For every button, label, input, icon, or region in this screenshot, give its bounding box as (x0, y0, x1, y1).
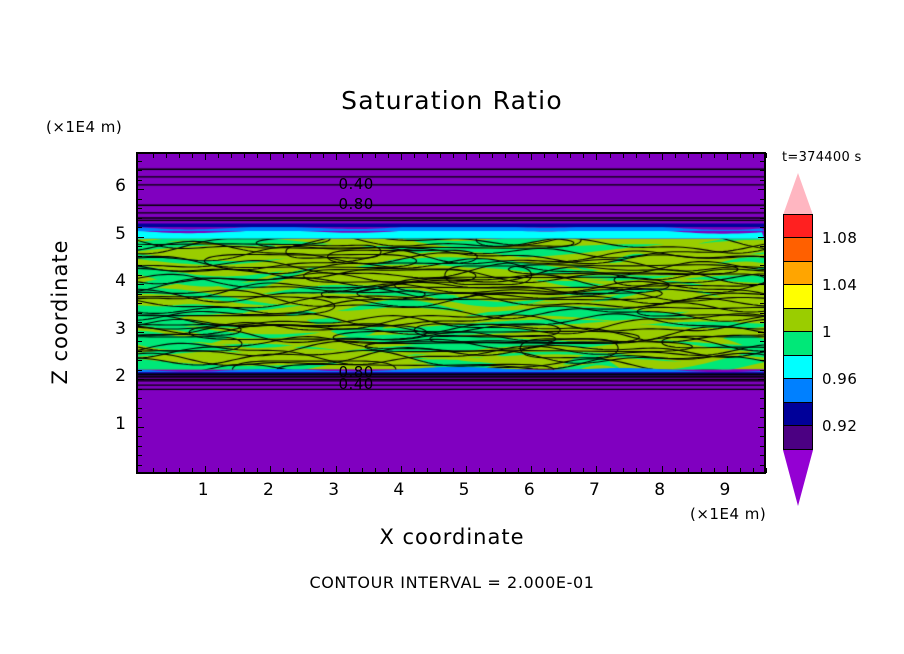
axis-tick (283, 153, 284, 158)
contour-plot-area (136, 152, 766, 474)
axis-tick (760, 275, 765, 276)
axis-tick (466, 153, 467, 160)
axis-tick (336, 153, 337, 160)
axis-tick (675, 468, 676, 473)
axis-tick (137, 275, 142, 276)
axis-tick (662, 466, 663, 473)
axis-tick (760, 303, 765, 304)
axis-tick (636, 153, 637, 158)
axis-tick (166, 153, 167, 158)
axis-tick (701, 153, 702, 158)
axis-tick (231, 153, 232, 158)
colorbar-tick-label: 1 (822, 323, 832, 341)
axis-tick (760, 170, 765, 171)
axis-tick (137, 284, 144, 285)
axis-tick (760, 436, 765, 437)
axis-tick (205, 153, 206, 160)
axis-tick (349, 153, 350, 158)
axis-tick (760, 322, 765, 323)
colorbar-band (783, 425, 813, 450)
axis-tick (310, 468, 311, 473)
axis-tick (675, 153, 676, 158)
y-tick-label: 5 (96, 224, 126, 244)
axis-tick (137, 246, 142, 247)
axis-tick (760, 360, 765, 361)
axis-tick (688, 468, 689, 473)
axis-tick (137, 370, 142, 371)
axis-tick (760, 161, 765, 162)
axis-tick (137, 189, 144, 190)
contour-line-label: 0.40 (338, 375, 373, 393)
axis-tick (466, 466, 467, 473)
axis-tick (714, 468, 715, 473)
axis-tick (583, 153, 584, 158)
axis-tick (727, 466, 728, 473)
axis-tick (760, 417, 765, 418)
colorbar-band (783, 331, 813, 356)
x-tick-label: 4 (379, 480, 419, 500)
axis-tick (760, 446, 765, 447)
axis-tick (137, 351, 142, 352)
axis-tick (623, 153, 624, 158)
axis-tick (760, 389, 765, 390)
colorbar-tick-label: 0.96 (822, 370, 857, 388)
axis-tick (137, 237, 144, 238)
axis-tick (427, 468, 428, 473)
axis-tick (531, 153, 532, 160)
contour-line-label: 0.80 (338, 195, 373, 213)
axis-tick (205, 466, 206, 473)
axis-tick (137, 180, 142, 181)
axis-tick (518, 153, 519, 158)
axis-tick (760, 398, 765, 399)
axis-tick (688, 153, 689, 158)
axis-tick (257, 153, 258, 158)
axis-tick (323, 468, 324, 473)
axis-tick (137, 208, 142, 209)
axis-tick (166, 468, 167, 473)
axis-tick (544, 468, 545, 473)
y-axis-title: Z coordinate (48, 212, 72, 412)
axis-tick (479, 153, 480, 158)
axis-tick (701, 468, 702, 473)
axis-tick (323, 153, 324, 158)
colorbar-bottom-cap (783, 450, 813, 506)
axis-tick (610, 468, 611, 473)
axis-tick (760, 265, 765, 266)
axis-tick (153, 153, 154, 158)
x-tick-label: 1 (183, 480, 223, 500)
axis-tick (137, 161, 142, 162)
axis-tick (137, 227, 142, 228)
y-tick-label: 3 (96, 319, 126, 339)
axis-tick (375, 153, 376, 158)
axis-tick (758, 284, 765, 285)
axis-tick (137, 341, 142, 342)
axis-tick (137, 398, 142, 399)
axis-tick (505, 468, 506, 473)
axis-tick (310, 153, 311, 158)
axis-tick (414, 468, 415, 473)
axis-tick (137, 446, 142, 447)
axis-tick (760, 227, 765, 228)
colorbar-tick-label: 1.08 (822, 229, 857, 247)
x-tick-label: 7 (574, 480, 614, 500)
axis-tick (557, 468, 558, 473)
x-axis-unit-label: (×1E4 m) (690, 505, 766, 523)
axis-tick (137, 465, 142, 466)
y-tick-label: 2 (96, 366, 126, 386)
axis-tick (758, 427, 765, 428)
axis-tick (505, 153, 506, 158)
axis-tick (760, 341, 765, 342)
axis-tick (231, 468, 232, 473)
contour-field-canvas (138, 154, 764, 472)
axis-tick (760, 180, 765, 181)
axis-tick (649, 153, 650, 158)
axis-tick (760, 246, 765, 247)
axis-tick (623, 468, 624, 473)
colorbar-band (783, 284, 813, 309)
axis-tick (137, 199, 142, 200)
axis-tick (570, 468, 571, 473)
axis-tick (153, 468, 154, 473)
colorbar-tick-label: 0.92 (822, 417, 857, 435)
axis-tick (760, 294, 765, 295)
axis-tick (137, 265, 142, 266)
axis-tick (760, 199, 765, 200)
x-tick-label: 9 (705, 480, 745, 500)
colorbar-band (783, 237, 813, 262)
axis-tick (137, 436, 142, 437)
axis-tick (137, 313, 142, 314)
axis-tick (270, 153, 271, 160)
axis-tick (557, 153, 558, 158)
axis-tick (453, 468, 454, 473)
colorbar-tick-label: 1.04 (822, 276, 857, 294)
axis-tick (137, 218, 142, 219)
axis-tick (137, 170, 142, 171)
axis-tick (610, 153, 611, 158)
y-axis-unit-label: (×1E4 m) (46, 118, 122, 136)
colorbar (783, 215, 813, 450)
x-tick-label: 6 (509, 480, 549, 500)
axis-tick (137, 322, 142, 323)
axis-tick (137, 427, 144, 428)
axis-tick (336, 466, 337, 473)
axis-tick (596, 153, 597, 160)
axis-tick (760, 408, 765, 409)
axis-tick (714, 153, 715, 158)
axis-tick (570, 153, 571, 158)
axis-tick (137, 294, 142, 295)
axis-tick (649, 468, 650, 473)
axis-tick (137, 360, 142, 361)
axis-tick (760, 313, 765, 314)
axis-tick (753, 468, 754, 473)
axis-tick (349, 468, 350, 473)
y-tick-label: 6 (96, 176, 126, 196)
colorbar-band (783, 378, 813, 403)
axis-tick (427, 153, 428, 158)
y-tick-label: 1 (96, 414, 126, 434)
axis-tick (388, 153, 389, 158)
axis-tick (137, 332, 144, 333)
axis-tick (362, 468, 363, 473)
colorbar-band (783, 355, 813, 380)
axis-tick (137, 303, 142, 304)
x-tick-label: 8 (640, 480, 680, 500)
axis-tick (440, 468, 441, 473)
axis-tick (218, 153, 219, 158)
axis-tick (662, 153, 663, 160)
axis-tick (375, 468, 376, 473)
axis-tick (531, 466, 532, 473)
axis-tick (137, 408, 142, 409)
x-tick-label: 5 (444, 480, 484, 500)
axis-tick (137, 389, 142, 390)
axis-tick (218, 468, 219, 473)
axis-tick (137, 417, 142, 418)
axis-tick (740, 153, 741, 158)
axis-tick (244, 468, 245, 473)
y-tick-label: 4 (96, 271, 126, 291)
contour-interval-caption: CONTOUR INTERVAL = 2.000E-01 (0, 573, 904, 592)
axis-tick (137, 455, 142, 456)
axis-tick (401, 466, 402, 473)
axis-tick (758, 332, 765, 333)
axis-tick (192, 468, 193, 473)
x-axis-title: X coordinate (0, 525, 904, 549)
axis-tick (492, 468, 493, 473)
colorbar-band (783, 261, 813, 286)
axis-tick (760, 218, 765, 219)
colorbar-band (783, 214, 813, 239)
axis-tick (758, 237, 765, 238)
axis-tick (518, 468, 519, 473)
axis-tick (766, 153, 767, 158)
colorbar-top-cap (783, 173, 813, 215)
axis-tick (257, 468, 258, 473)
contour-line-label: 0.40 (338, 175, 373, 193)
axis-tick (766, 468, 767, 473)
axis-tick (244, 153, 245, 158)
axis-tick (137, 256, 142, 257)
axis-tick (596, 466, 597, 473)
axis-tick (758, 189, 765, 190)
axis-tick (401, 153, 402, 160)
axis-tick (740, 468, 741, 473)
colorbar-band (783, 402, 813, 427)
axis-tick (453, 153, 454, 158)
axis-tick (440, 153, 441, 158)
axis-tick (297, 468, 298, 473)
axis-tick (192, 153, 193, 158)
axis-tick (362, 153, 363, 158)
axis-tick (727, 153, 728, 160)
axis-tick (636, 468, 637, 473)
axis-tick (760, 455, 765, 456)
x-tick-label: 3 (314, 480, 354, 500)
time-annotation: t=374400 s (782, 150, 862, 165)
axis-tick (544, 153, 545, 158)
axis-tick (583, 468, 584, 473)
axis-tick (760, 208, 765, 209)
axis-tick (388, 468, 389, 473)
axis-tick (753, 153, 754, 158)
x-tick-label: 2 (248, 480, 288, 500)
axis-tick (760, 370, 765, 371)
axis-tick (760, 465, 765, 466)
axis-tick (760, 256, 765, 257)
axis-tick (137, 379, 144, 380)
axis-tick (179, 153, 180, 158)
axis-tick (492, 153, 493, 158)
axis-tick (283, 468, 284, 473)
axis-tick (479, 468, 480, 473)
axis-tick (414, 153, 415, 158)
axis-tick (270, 466, 271, 473)
axis-tick (760, 351, 765, 352)
axis-tick (179, 468, 180, 473)
colorbar-band (783, 308, 813, 333)
axis-tick (758, 379, 765, 380)
axis-tick (297, 153, 298, 158)
page-title: Saturation Ratio (0, 86, 904, 115)
